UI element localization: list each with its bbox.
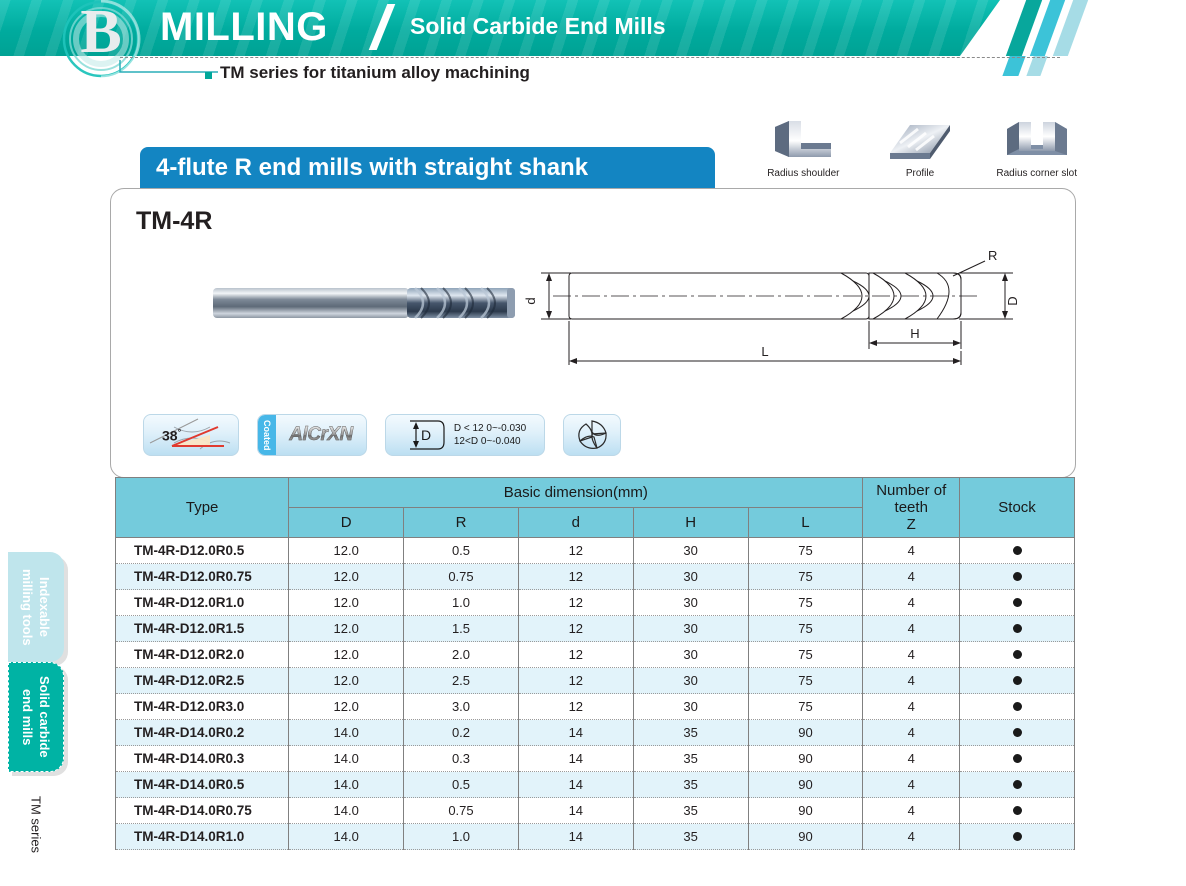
cell-R: 0.75 — [404, 798, 519, 824]
col-header-d-small: d — [518, 508, 633, 538]
cell-type: TM-4R-D12.0R0.75 — [116, 564, 289, 590]
drawing-label-d-small: d — [523, 297, 538, 304]
header-dashed-rule — [120, 57, 1060, 58]
cell-R: 0.5 — [404, 772, 519, 798]
cell-d: 12 — [518, 668, 633, 694]
cell-d: 12 — [518, 538, 633, 564]
stock-dot-icon — [1013, 806, 1022, 815]
table-row: TM-4R-D12.0R1.012.01.01230754 — [116, 590, 1075, 616]
coating-name: AlCrXN — [276, 424, 366, 446]
table-row: TM-4R-D12.0R2.512.02.51230754 — [116, 668, 1075, 694]
cell-D: 12.0 — [289, 642, 404, 668]
cell-stock — [960, 694, 1075, 720]
cell-stock — [960, 772, 1075, 798]
stock-dot-icon — [1013, 572, 1022, 581]
cell-Z: 4 — [863, 668, 960, 694]
cell-d: 14 — [518, 772, 633, 798]
cell-d: 14 — [518, 798, 633, 824]
diameter-tolerance-icon: D — [404, 418, 448, 452]
cell-L: 90 — [748, 746, 863, 772]
col-header-H: H — [633, 508, 748, 538]
table-row: TM-4R-D14.0R0.514.00.51435904 — [116, 772, 1075, 798]
table-body: TM-4R-D12.0R0.512.00.51230754TM-4R-D12.0… — [116, 538, 1075, 850]
cell-D: 12.0 — [289, 694, 404, 720]
table-row: TM-4R-D14.0R0.7514.00.751435904 — [116, 798, 1075, 824]
cell-Z: 4 — [863, 824, 960, 850]
flute-count-badge — [563, 414, 621, 456]
section-title-banner: 4-flute R end mills with straight shank — [140, 147, 715, 189]
coating-badge: Coated AlCrXN — [257, 414, 367, 456]
cell-D: 14.0 — [289, 746, 404, 772]
cell-L: 75 — [748, 694, 863, 720]
cell-type: TM-4R-D14.0R0.75 — [116, 798, 289, 824]
cell-d: 14 — [518, 746, 633, 772]
cell-Z: 4 — [863, 642, 960, 668]
cell-H: 30 — [633, 616, 748, 642]
cell-R: 0.5 — [404, 538, 519, 564]
col-header-teeth-l2: teeth — [865, 499, 957, 516]
col-header-teeth: Number of teeth Z — [863, 478, 960, 538]
col-header-teeth-l3: Z — [865, 516, 957, 533]
cell-type: TM-4R-D14.0R0.2 — [116, 720, 289, 746]
cell-H: 35 — [633, 798, 748, 824]
technical-drawing: d D R H L — [501, 251, 1061, 371]
cell-L: 75 — [748, 538, 863, 564]
stock-dot-icon — [1013, 832, 1022, 841]
cell-Z: 4 — [863, 616, 960, 642]
col-header-R: R — [404, 508, 519, 538]
cell-stock — [960, 798, 1075, 824]
radius-corner-slot-icon — [993, 118, 1080, 166]
cell-stock — [960, 824, 1075, 850]
table-header-row-1: Type Basic dimension(mm) Number of teeth… — [116, 478, 1075, 508]
stock-dot-icon — [1013, 650, 1022, 659]
stock-dot-icon — [1013, 702, 1022, 711]
stock-dot-icon — [1013, 728, 1022, 737]
table-head: Type Basic dimension(mm) Number of teeth… — [116, 478, 1075, 538]
application-label: Profile — [877, 168, 964, 179]
cell-D: 12.0 — [289, 564, 404, 590]
cell-Z: 4 — [863, 798, 960, 824]
cell-H: 30 — [633, 590, 748, 616]
radius-shoulder-icon — [760, 118, 847, 166]
table-row: TM-4R-D12.0R1.512.01.51230754 — [116, 616, 1075, 642]
application-radius-corner-slot: Radius corner slot — [993, 118, 1080, 188]
page-header: MILLING Solid Carbide End Mills — [0, 0, 1186, 56]
helix-angle-badge: 38° — [143, 414, 239, 456]
cell-Z: 4 — [863, 694, 960, 720]
cell-R: 0.75 — [404, 564, 519, 590]
cell-type: TM-4R-D12.0R0.5 — [116, 538, 289, 564]
col-header-basic-dimension: Basic dimension(mm) — [289, 478, 863, 508]
product-photo — [211, 279, 521, 327]
table-row: TM-4R-D12.0R3.012.03.01230754 — [116, 694, 1075, 720]
cell-R: 1.0 — [404, 590, 519, 616]
sidebar-item-solid-carbide-end-mills[interactable]: Solid carbideend mills — [8, 662, 64, 772]
col-header-L: L — [748, 508, 863, 538]
cell-d: 12 — [518, 642, 633, 668]
application-profile: Profile — [877, 118, 964, 188]
cell-R: 0.3 — [404, 746, 519, 772]
cell-L: 90 — [748, 798, 863, 824]
col-header-stock: Stock — [960, 478, 1075, 538]
tolerance-badge: D D < 12 0~-0.030 12<D 0~-0.040 — [385, 414, 545, 456]
cell-type: TM-4R-D14.0R1.0 — [116, 824, 289, 850]
catalog-page: MILLING Solid Carbide End Mills B TM ser… — [0, 0, 1186, 886]
sidebar-series-label: TM series — [8, 780, 64, 870]
cell-Z: 4 — [863, 746, 960, 772]
tolerance-values: D < 12 0~-0.030 12<D 0~-0.040 — [454, 422, 526, 448]
application-label: Radius corner slot — [993, 168, 1080, 179]
cell-R: 2.0 — [404, 642, 519, 668]
cell-stock — [960, 538, 1075, 564]
cell-H: 30 — [633, 694, 748, 720]
cell-D: 12.0 — [289, 590, 404, 616]
cell-stock — [960, 746, 1075, 772]
cell-stock — [960, 564, 1075, 590]
tolerance-line-2: 12<D 0~-0.040 — [454, 435, 526, 448]
cell-D: 14.0 — [289, 720, 404, 746]
cell-d: 14 — [518, 824, 633, 850]
cell-L: 90 — [748, 772, 863, 798]
cell-type: TM-4R-D12.0R2.5 — [116, 668, 289, 694]
cell-type: TM-4R-D12.0R2.0 — [116, 642, 289, 668]
stock-dot-icon — [1013, 676, 1022, 685]
header-title: MILLING — [160, 5, 328, 50]
header-subtitle: Solid Carbide End Mills — [410, 13, 666, 40]
cell-type: TM-4R-D14.0R0.3 — [116, 746, 289, 772]
cell-H: 35 — [633, 824, 748, 850]
stock-dot-icon — [1013, 624, 1022, 633]
sidebar-series-text: TM series — [29, 796, 44, 853]
cell-L: 75 — [748, 668, 863, 694]
table-row: TM-4R-D12.0R0.7512.00.751230754 — [116, 564, 1075, 590]
table-row: TM-4R-D14.0R0.314.00.31435904 — [116, 746, 1075, 772]
cell-type: TM-4R-D12.0R1.0 — [116, 590, 289, 616]
specifications-table: Type Basic dimension(mm) Number of teeth… — [115, 477, 1075, 850]
application-radius-shoulder: Radius shoulder — [760, 118, 847, 188]
cell-H: 30 — [633, 564, 748, 590]
helix-angle-value: 38° — [162, 427, 181, 444]
cell-R: 3.0 — [404, 694, 519, 720]
cell-D: 12.0 — [289, 538, 404, 564]
tolerance-symbol: D — [421, 427, 431, 443]
cell-D: 12.0 — [289, 668, 404, 694]
cell-type: TM-4R-D12.0R3.0 — [116, 694, 289, 720]
drawing-label-R: R — [988, 251, 997, 263]
cell-stock — [960, 590, 1075, 616]
cell-R: 1.0 — [404, 824, 519, 850]
cell-H: 35 — [633, 772, 748, 798]
cell-Z: 4 — [863, 720, 960, 746]
cell-R: 1.5 — [404, 616, 519, 642]
sidebar-item-label: Solid carbideend mills — [19, 676, 53, 758]
drawing-label-L: L — [761, 344, 768, 359]
cell-stock — [960, 668, 1075, 694]
sidebar-item-label: Indexablemilling tools — [19, 569, 53, 646]
cell-Z: 4 — [863, 564, 960, 590]
table-row: TM-4R-D14.0R1.014.01.01435904 — [116, 824, 1075, 850]
table-row: TM-4R-D12.0R2.012.02.01230754 — [116, 642, 1075, 668]
stock-dot-icon — [1013, 546, 1022, 555]
product-card: TM-4R — [110, 188, 1076, 478]
profile-icon — [877, 118, 964, 166]
cell-D: 14.0 — [289, 798, 404, 824]
cell-stock — [960, 616, 1075, 642]
cell-d: 12 — [518, 616, 633, 642]
cell-D: 14.0 — [289, 824, 404, 850]
cell-stock — [960, 642, 1075, 668]
header-stripe-low-2 — [1026, 56, 1047, 76]
cell-L: 75 — [748, 564, 863, 590]
section-title-text: 4-flute R end mills with straight shank — [156, 154, 588, 182]
cell-L: 75 — [748, 642, 863, 668]
header-callout-marker — [205, 72, 212, 79]
application-icons: Radius shoulder — [760, 118, 1080, 188]
drawing-label-H: H — [910, 326, 919, 341]
cell-d: 12 — [518, 694, 633, 720]
stock-dot-icon — [1013, 598, 1022, 607]
cell-D: 14.0 — [289, 772, 404, 798]
application-label: Radius shoulder — [760, 168, 847, 179]
header-series-note: TM series for titanium alloy machining — [220, 63, 530, 83]
cell-H: 35 — [633, 746, 748, 772]
cell-d: 12 — [518, 590, 633, 616]
col-header-type: Type — [116, 478, 289, 538]
header-stripe-low-1 — [1002, 56, 1025, 76]
cell-d: 12 — [518, 564, 633, 590]
cell-L: 90 — [748, 824, 863, 850]
cell-Z: 4 — [863, 590, 960, 616]
cell-L: 75 — [748, 590, 863, 616]
coated-tab-label: Coated — [262, 420, 272, 451]
cell-H: 30 — [633, 642, 748, 668]
cell-L: 90 — [748, 720, 863, 746]
drawing-label-D: D — [1005, 296, 1020, 305]
cell-stock — [960, 720, 1075, 746]
stock-dot-icon — [1013, 780, 1022, 789]
coated-tab: Coated — [258, 415, 276, 455]
card-title: TM-4R — [136, 207, 212, 236]
table-row: TM-4R-D14.0R0.214.00.21435904 — [116, 720, 1075, 746]
cell-D: 12.0 — [289, 616, 404, 642]
cell-L: 75 — [748, 616, 863, 642]
4-flute-end-icon — [572, 417, 612, 453]
cell-d: 14 — [518, 720, 633, 746]
cell-H: 30 — [633, 668, 748, 694]
cell-R: 2.5 — [404, 668, 519, 694]
cell-H: 30 — [633, 538, 748, 564]
table-row: TM-4R-D12.0R0.512.00.51230754 — [116, 538, 1075, 564]
cell-type: TM-4R-D12.0R1.5 — [116, 616, 289, 642]
cell-H: 35 — [633, 720, 748, 746]
sidebar-item-indexable-milling-tools[interactable]: Indexablemilling tools — [8, 552, 64, 662]
cell-Z: 4 — [863, 538, 960, 564]
stock-dot-icon — [1013, 754, 1022, 763]
cell-Z: 4 — [863, 772, 960, 798]
cell-type: TM-4R-D14.0R0.5 — [116, 772, 289, 798]
col-header-D: D — [289, 508, 404, 538]
spec-badges: 38° Coated AlCrXN D D < 12 0~-0.030 — [143, 414, 621, 456]
col-header-teeth-l1: Number of — [865, 482, 957, 499]
tolerance-line-1: D < 12 0~-0.030 — [454, 422, 526, 435]
cell-R: 0.2 — [404, 720, 519, 746]
